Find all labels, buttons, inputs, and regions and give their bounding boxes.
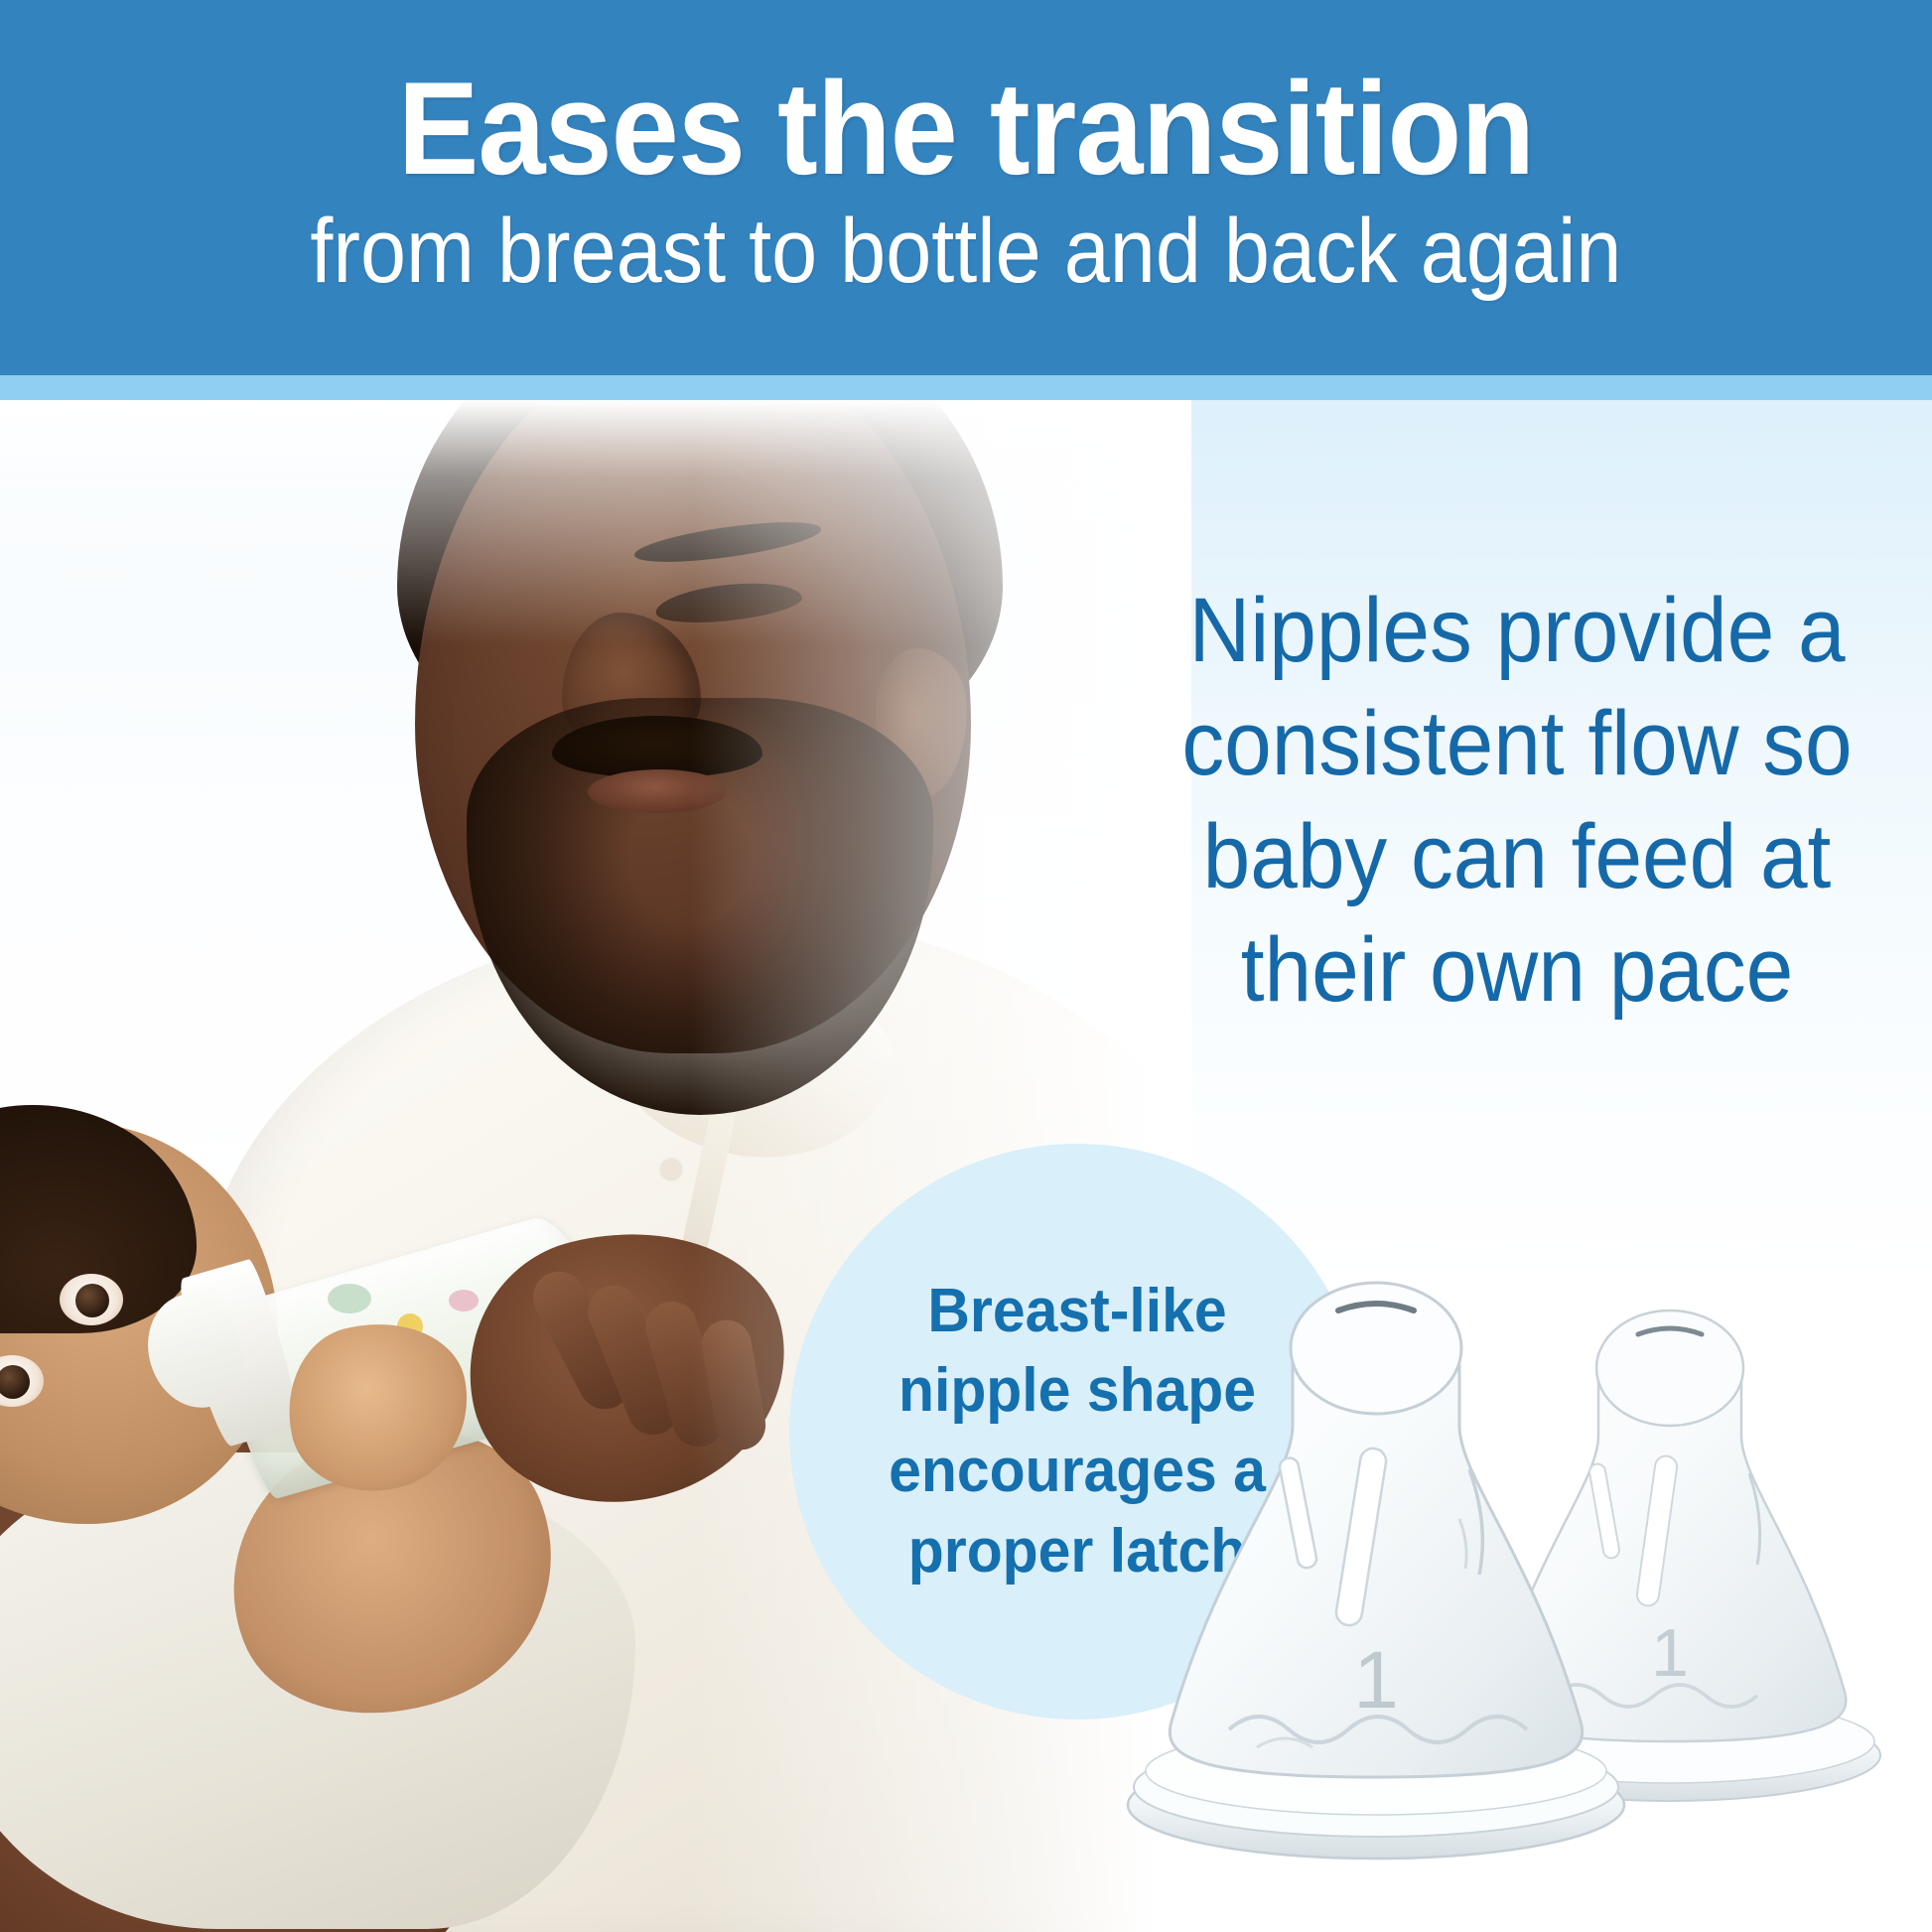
father-lips: [588, 769, 727, 813]
father-shirt-button: [661, 1160, 681, 1179]
feature-description-line: Nipples provide a: [1148, 574, 1886, 687]
header-accent-bar: [0, 375, 1932, 400]
bottle-decal-shell: [449, 1290, 479, 1311]
page-title: Eases the transition: [398, 62, 1534, 198]
feature-description: Nipples provide a consistent flow so bab…: [1148, 574, 1886, 1027]
baby-pupil-left: [75, 1284, 109, 1317]
header-banner: Eases the transition from breast to bott…: [0, 0, 1932, 375]
page-subtitle: from breast to bottle and back again: [310, 204, 1621, 300]
feature-description-line: consistent flow so: [1148, 687, 1886, 800]
flow-level-label-back: 1: [1651, 1615, 1689, 1691]
bottle-decal-whale: [328, 1284, 371, 1313]
bottle-nipple-front: 1: [1118, 1281, 1634, 1876]
flow-level-label-front: 1: [1353, 1635, 1399, 1725]
feature-description-line: baby can feed at: [1148, 800, 1886, 913]
product-feature-panel: Eases the transition from breast to bott…: [0, 0, 1932, 1932]
feature-description-line: their own pace: [1148, 913, 1886, 1027]
